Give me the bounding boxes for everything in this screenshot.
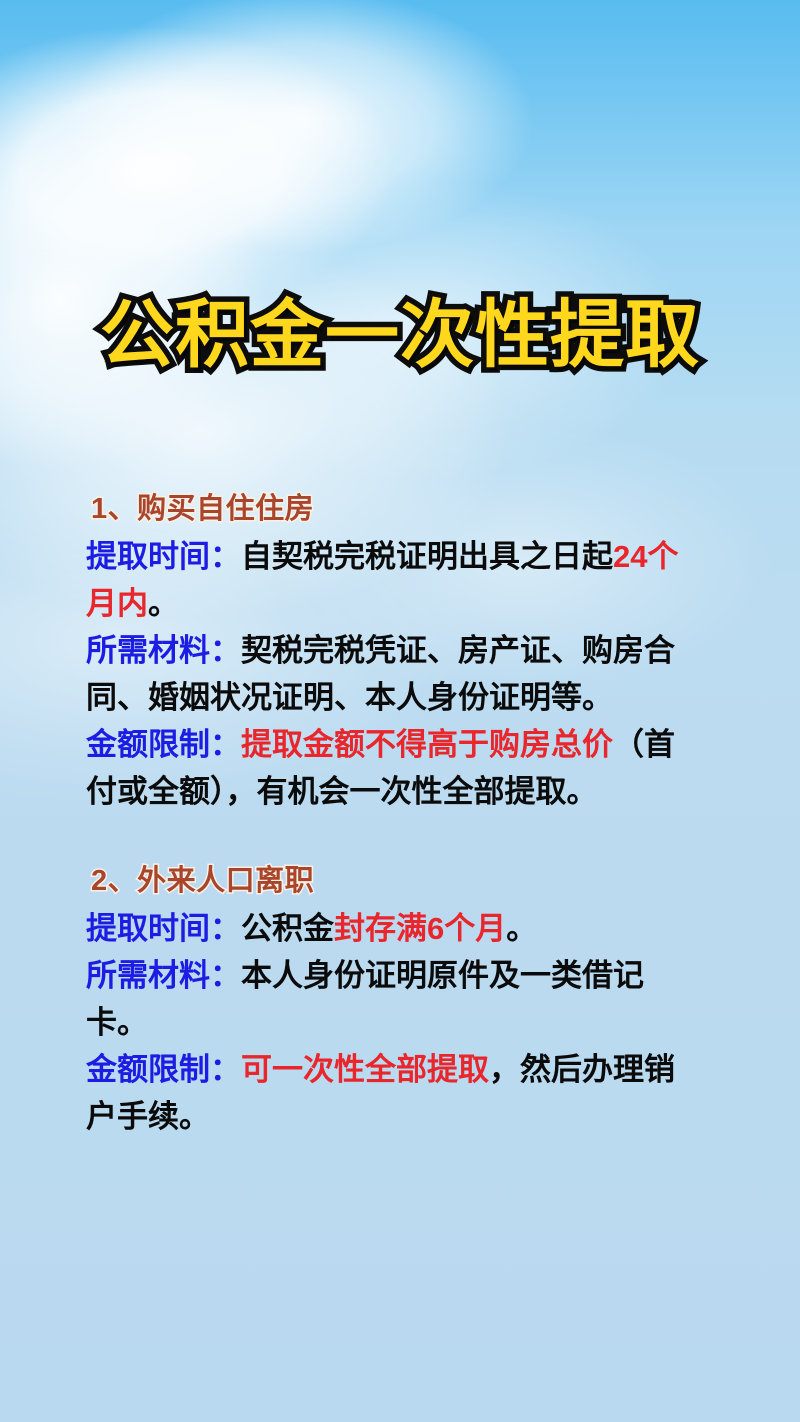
info-row-label: 所需材料： <box>86 958 241 993</box>
body-text: 公积金 <box>241 911 334 946</box>
section-heading: 2、外来人口离职 <box>86 859 698 903</box>
body-text: 自契税完税证明出具之日起 <box>241 539 613 574</box>
section-heading: 1、购买自住住房 <box>86 487 698 531</box>
content-section: 1、购买自住住房提取时间：自契税完税证明出具之日起24个月内。所需材料：契税完税… <box>86 487 698 815</box>
highlighted-text: 可一次性全部提取 <box>241 1052 489 1087</box>
poster-title-container: 公积金一次性提取 <box>0 296 800 374</box>
content-section: 2、外来人口离职提取时间：公积金封存满6个月。所需材料：本人身份证明原件及一类借… <box>86 859 698 1140</box>
info-row: 提取时间：公积金封存满6个月。 <box>86 905 698 952</box>
highlighted-text: 封存满6个月 <box>334 911 506 946</box>
body-text: 。 <box>506 911 537 946</box>
page-title: 公积金一次性提取 <box>100 296 700 374</box>
info-row: 提取时间：自契税完税证明出具之日起24个月内。 <box>86 533 698 627</box>
info-row-label: 金额限制： <box>86 1052 241 1087</box>
info-row: 金额限制：提取金额不得高于购房总价（首付或全额），有机会一次性全部提取。 <box>86 721 698 815</box>
info-row-label: 金额限制： <box>86 727 241 762</box>
info-row: 所需材料：契税完税凭证、房产证、购房合同、婚姻状况证明、本人身份证明等。 <box>86 627 698 721</box>
highlighted-text: 提取金额不得高于购房总价 <box>241 727 613 762</box>
info-row-label: 提取时间： <box>86 911 241 946</box>
info-row-label: 所需材料： <box>86 633 241 668</box>
poster-body: 1、购买自住住房提取时间：自契税完税证明出具之日起24个月内。所需材料：契税完税… <box>86 487 698 1156</box>
info-row-label: 提取时间： <box>86 539 241 574</box>
body-text: 。 <box>148 586 179 621</box>
info-row: 所需材料：本人身份证明原件及一类借记卡。 <box>86 952 698 1046</box>
info-row: 金额限制：可一次性全部提取，然后办理销户手续。 <box>86 1046 698 1140</box>
poster-canvas: 公积金一次性提取 1、购买自住住房提取时间：自契税完税证明出具之日起24个月内。… <box>0 0 800 1422</box>
